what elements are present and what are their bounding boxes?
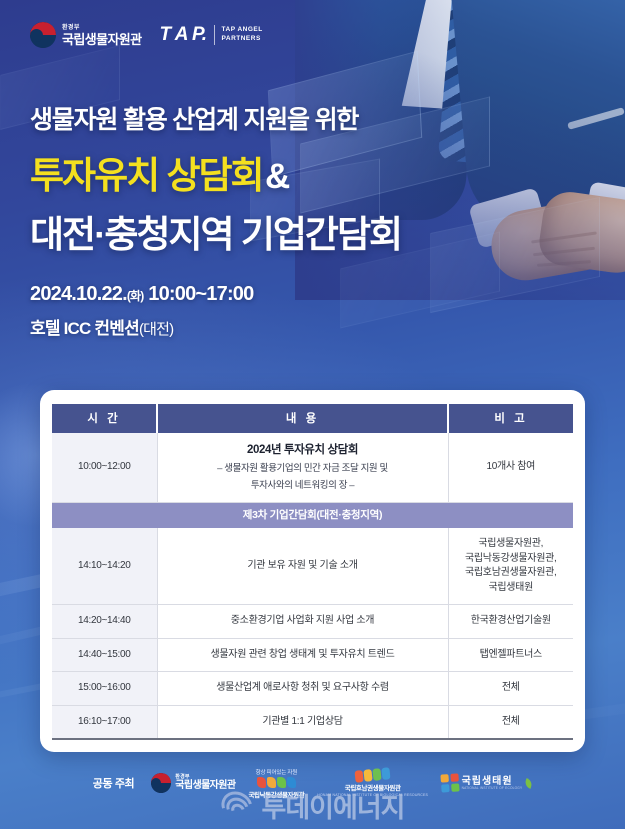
cell-note: 국립생물자원관, 국립낙동강생물자원관, 국립호남권생물자원관, 국립생태원 [448,528,573,605]
column-header-note: 비 고 [448,404,573,433]
sponsor-name-nibr: 국립생물자원관 [175,781,235,791]
table-row: 14:20~14:40 중소환경기업 사업화 지원 사업 소개 한국환경산업기술… [52,605,573,639]
sponsor-footer: 공동 주최 환경부 국립생물자원관 항상 피어있는 자원 국립낙동강생물자원관 [0,758,625,808]
ministry-label: 환경부 [62,25,142,31]
column-header-content: 내 용 [157,404,448,433]
table-row: 16:10~17:00 기관별 1:1 기업상담 전체 [52,705,573,739]
sponsor-name-nie-en: NATIONAL INSTITUTE OF ECOLOGY [462,787,523,791]
event-weekday: (화) [127,289,144,303]
event-poster: 환경부 국립생물자원관 T A P. TAP ANGEL PARTNERS 생물… [0,0,625,829]
note-line-3: 국립호남권생물자원관, [455,566,568,581]
nie-emblem-icon [440,774,459,793]
table-section-divider-row: 제3차 기업간담회(대전·충청지역) [52,503,573,529]
schedule-table: 시 간 내 용 비 고 10:00~12:00 2024년 투자유치 상담회 –… [52,404,573,740]
taegeuk-icon [30,22,56,48]
title-line-1: 생물자원 활용 산업계 지원을 위한 [30,100,401,136]
table-header-row: 시 간 내 용 비 고 [52,404,573,433]
event-date: 2024.10.22. [30,283,127,305]
event-time: 10:00~17:00 [148,283,253,305]
table-row: 14:40~15:00 생물자원 관련 창업 생태계 및 투자유치 트렌드 탭엔… [52,638,573,672]
cell-content-sub-1: – 생물자원 활용기업의 민간 자금 조달 지원 및 [164,462,442,476]
cell-time: 16:10~17:00 [52,705,157,739]
sponsor-ministry-label: 환경부 [175,775,235,780]
section-divider-label: 제3차 기업간담회(대전·충청지역) [52,503,573,529]
table-row: 14:10~14:20 기관 보유 자원 및 기술 소개 국립생물자원관, 국립… [52,528,573,605]
cell-note: 전체 [448,705,573,739]
sponsor-name-hnibr-en: HONAM NATIONAL INSTITUTE OF BIOLOGICAL R… [317,793,428,797]
cell-content: 생물자원 관련 창업 생태계 및 투자유치 트렌드 [157,638,448,672]
schedule-card: 시 간 내 용 비 고 10:00~12:00 2024년 투자유치 상담회 –… [40,390,585,752]
tap-sub-line1: TAP ANGEL [222,26,263,35]
cell-time: 14:10~14:20 [52,528,157,605]
cell-time: 14:40~15:00 [52,638,157,672]
poster-title: 생물자원 활용 산업계 지원을 위한 투자유치 상담회 & 대전·충청지역 기업… [30,100,401,258]
table-row: 10:00~12:00 2024년 투자유치 상담회 – 생물자원 활용기업의 … [52,433,573,503]
cell-content: 기관 보유 자원 및 기술 소개 [157,528,448,605]
title-line-3: 대전·충청지역 기업간담회 [30,204,401,258]
sponsor-logo-nie: 국립생태원 NATIONAL INSTITUTE OF ECOLOGY [441,774,532,792]
column-header-time: 시 간 [52,404,157,433]
taegeuk-icon [151,773,171,793]
sponsor-logo-nnibr: 항상 피어있는 자원 국립낙동강생물자원관 [248,768,304,799]
event-venue-city: (대전) [139,321,173,338]
sponsor-tagline-nnibr: 항상 피어있는 자원 [256,768,298,776]
cell-note: 한국환경산업기술원 [448,605,573,639]
event-meta: 2024.10.22.(화) 10:00~17:00 호텔 ICC 컨벤션(대전… [30,283,253,339]
tap-angel-partners-logo: T A P. TAP ANGEL PARTNERS [160,24,263,46]
cell-time: 10:00~12:00 [52,433,157,503]
event-venue: 호텔 ICC 컨벤션 [30,319,139,338]
title-ampersand: & [265,157,288,196]
cell-note: 탭엔젤파트너스 [448,638,573,672]
co-host-label: 공동 주최 [93,775,135,791]
cell-content-title: 2024년 투자유치 상담회 [164,442,442,459]
top-logo-bar: 환경부 국립생물자원관 T A P. TAP ANGEL PARTNERS [30,22,263,48]
sponsor-logo-nibr: 환경부 국립생물자원관 [151,773,235,793]
leaf-icon [524,778,533,789]
cell-content: 중소환경기업 사업화 지원 사업 소개 [157,605,448,639]
table-row: 15:00~16:00 생물산업계 애로사항 청취 및 요구사항 수렴 전체 [52,672,573,706]
sponsor-logo-hnibr: 국립호남권생물자원관 HONAM NATIONAL INSTITUTE OF B… [317,769,428,797]
cell-content: 2024년 투자유치 상담회 – 생물자원 활용기업의 민간 자금 조달 지원 … [157,433,448,503]
logo-divider [214,25,215,45]
nnibr-emblem-icon [257,777,296,788]
cell-content: 생물산업계 애로사항 청취 및 요구사항 수렴 [157,672,448,706]
cell-time: 15:00~16:00 [52,672,157,706]
note-line-2: 국립낙동강생물자원관, [455,552,568,567]
tap-sub-line2: PARTNERS [222,35,263,44]
cell-content: 기관별 1:1 기업상담 [157,705,448,739]
sponsor-name-hnibr: 국립호남권생물자원관 [345,782,401,792]
hnibr-emblem-icon [355,767,391,783]
cell-note: 10개사 참여 [448,433,573,503]
cell-time: 14:20~14:40 [52,605,157,639]
cell-content-sub-2: 투자사와의 네트워킹의 장 – [164,479,442,493]
note-line-4: 국립생태원 [455,581,568,596]
cell-note: 전체 [448,672,573,706]
tap-mark-label: T A P. [160,24,207,46]
institute-label: 국립생물자원관 [62,33,142,46]
note-line-1: 국립생물자원관, [455,537,568,552]
sponsor-name-nnibr: 국립낙동강생물자원관 [248,789,304,799]
title-line-2-highlight: 투자유치 상담회 [30,155,263,196]
nibr-logo: 환경부 국립생물자원관 [30,22,142,48]
